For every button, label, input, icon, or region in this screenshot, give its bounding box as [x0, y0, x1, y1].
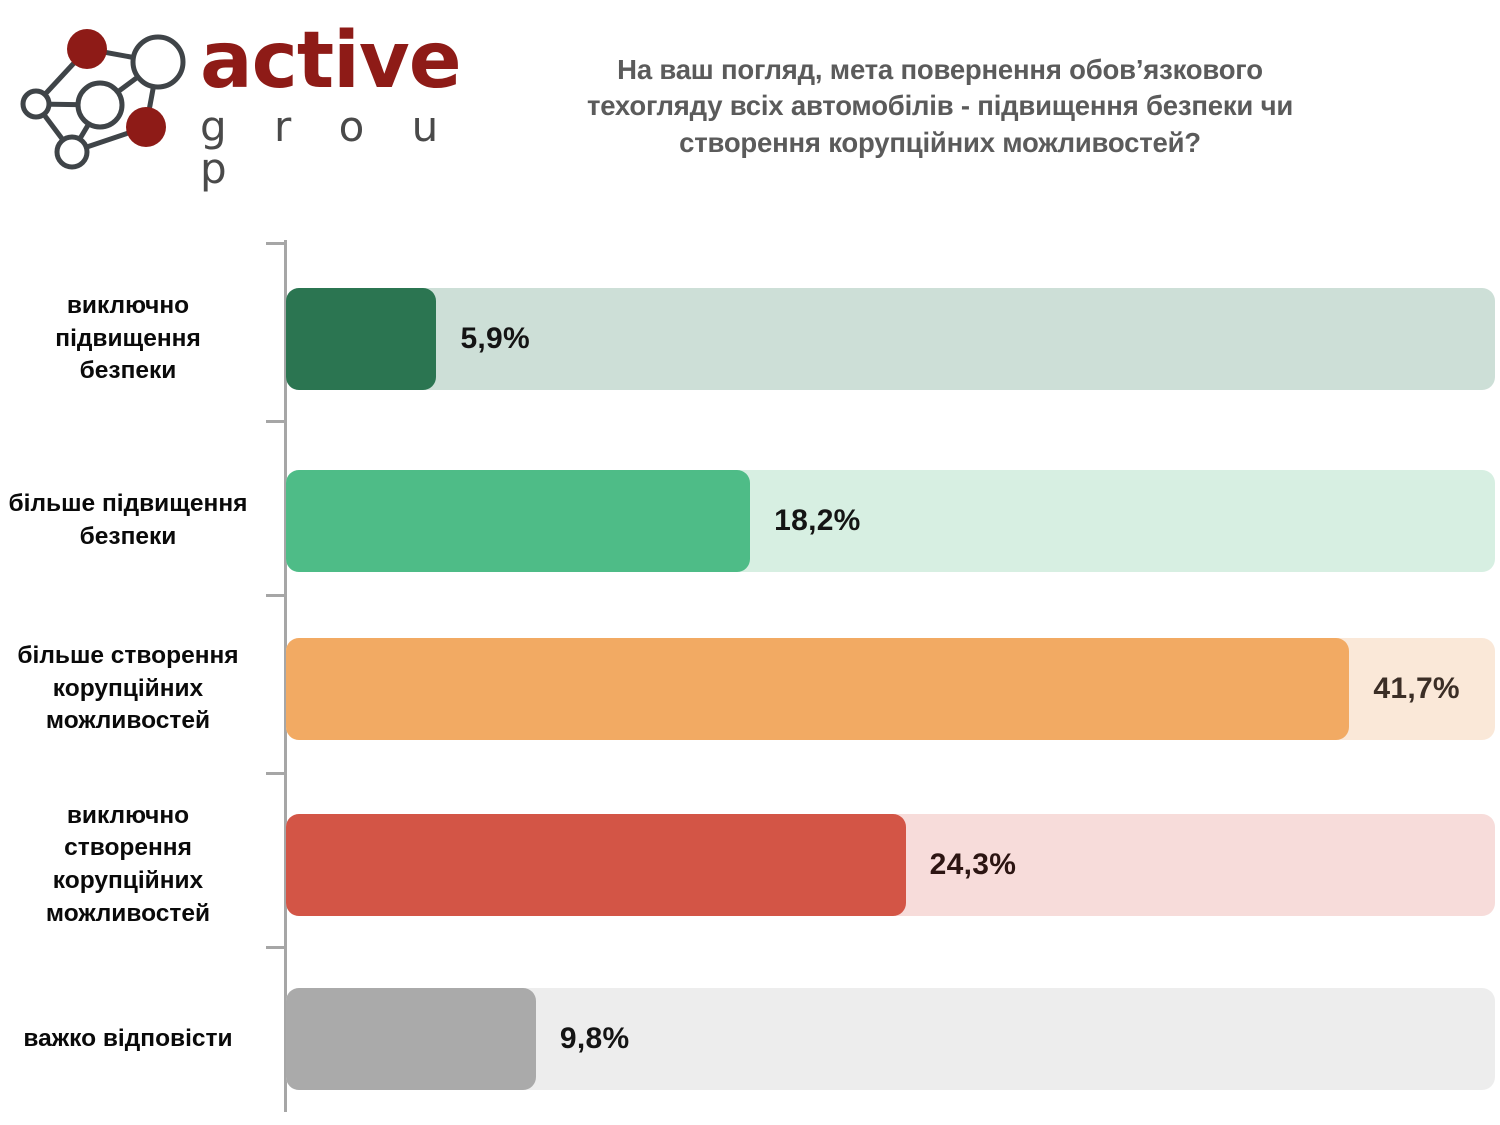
- category-label-line: корупційних: [0, 865, 263, 898]
- bar-value-label: 5,9%: [460, 288, 530, 390]
- bar-row[interactable]: 24,3%: [286, 814, 1495, 916]
- category-label-line: виключно: [0, 800, 263, 833]
- axis-tick: [266, 420, 285, 423]
- category-label: важко відповісти: [0, 1023, 263, 1056]
- category-label-line: безпеки: [0, 355, 263, 388]
- bar-value-label: 24,3%: [930, 814, 1017, 916]
- bar-row[interactable]: 18,2%: [286, 470, 1495, 572]
- category-label: більше створеннякорупційнихможливостей: [0, 640, 263, 738]
- category-label: більше підвищеннябезпеки: [0, 488, 263, 553]
- category-label-line: можливостей: [0, 898, 263, 931]
- bar-row[interactable]: 9,8%: [286, 988, 1495, 1090]
- bar-fill[interactable]: [286, 988, 536, 1090]
- bar-row[interactable]: 5,9%: [286, 288, 1495, 390]
- bar-fill[interactable]: [286, 638, 1349, 740]
- bar-row[interactable]: 41,7%: [286, 638, 1495, 740]
- category-label-line: можливостей: [0, 705, 263, 738]
- bar-fill[interactable]: [286, 288, 436, 390]
- category-label-line: виключно: [0, 290, 263, 323]
- category-label-line: важко відповісти: [0, 1023, 263, 1056]
- category-label-line: корупційних: [0, 673, 263, 706]
- bar-fill[interactable]: [286, 470, 750, 572]
- category-label-line: більше створення: [0, 640, 263, 673]
- bar-value-label: 18,2%: [774, 470, 861, 572]
- category-label: виключноствореннякорупційнихможливостей: [0, 800, 263, 930]
- axis-tick: [266, 242, 285, 245]
- category-label: виключнопідвищеннябезпеки: [0, 290, 263, 388]
- bar-value-label: 9,8%: [560, 988, 630, 1090]
- category-label-line: створення: [0, 832, 263, 865]
- bar-fill[interactable]: [286, 814, 906, 916]
- category-label-line: безпеки: [0, 521, 263, 554]
- bar-value-label: 41,7%: [1373, 638, 1460, 740]
- category-label-line: більше підвищення: [0, 488, 263, 521]
- bar-chart: 5,9%18,2%41,7%24,3%9,8% виключнопідвищен…: [0, 0, 1500, 1125]
- axis-tick: [266, 594, 285, 597]
- axis-tick: [266, 946, 285, 949]
- axis-tick: [266, 772, 285, 775]
- category-label-line: підвищення: [0, 323, 263, 356]
